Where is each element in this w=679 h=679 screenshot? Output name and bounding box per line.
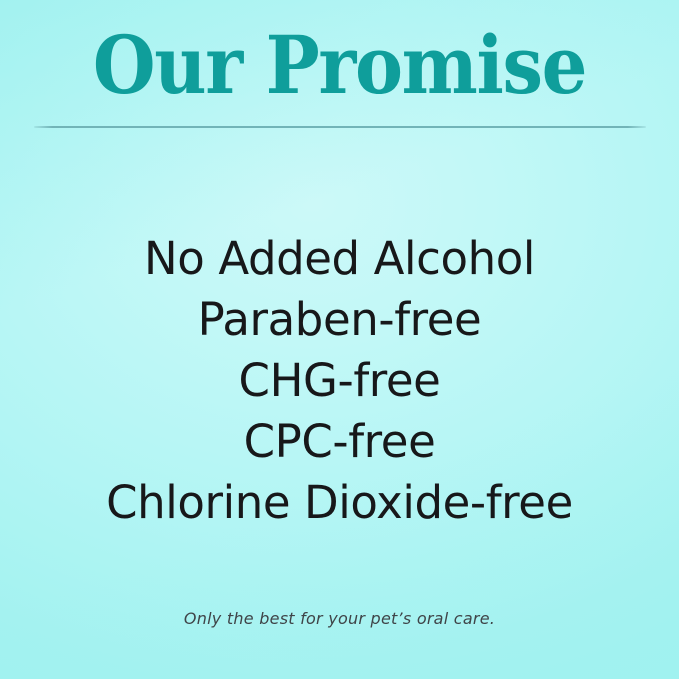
list-item: Paraben-free xyxy=(0,289,679,350)
claims-list: No Added Alcohol Paraben-free CHG-free C… xyxy=(0,228,679,533)
list-item: Chlorine Dioxide-free xyxy=(0,472,679,533)
page-title: Our Promise xyxy=(34,24,645,107)
list-item: CPC-free xyxy=(0,411,679,472)
divider xyxy=(0,126,679,128)
our-promise-card: Our Promise No Added Alcohol Paraben-fre… xyxy=(0,0,679,679)
card-content: Our Promise No Added Alcohol Paraben-fre… xyxy=(0,0,679,679)
footer-tagline: Only the best for your pet’s oral care. xyxy=(0,608,679,630)
divider-rule xyxy=(34,126,646,128)
list-item: No Added Alcohol xyxy=(0,228,679,289)
list-item: CHG-free xyxy=(0,350,679,411)
tagline-block: Only the best for your pet’s oral care. xyxy=(0,608,679,630)
title-block: Our Promise xyxy=(0,24,679,107)
